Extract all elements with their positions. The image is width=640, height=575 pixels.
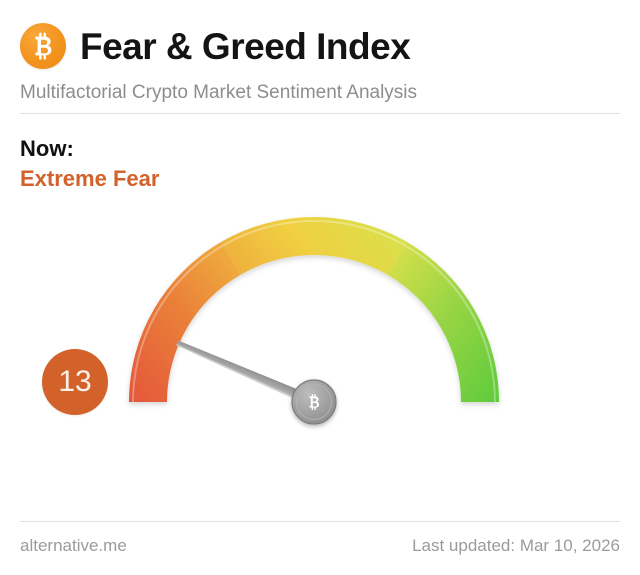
header: Fear & Greed Index [20,18,620,74]
page-title: Fear & Greed Index [80,28,410,65]
footer-divider [20,521,620,522]
fear-greed-index-widget: Fear & Greed Index Multifactorial Crypto… [0,0,640,575]
now-label: Now: [20,136,74,162]
gauge-svg [0,195,640,495]
source-label: alternative.me [20,536,127,556]
gauge-chart [0,195,640,495]
page-subtitle: Multifactorial Crypto Market Sentiment A… [20,82,417,104]
footer: alternative.me Last updated: Mar 10, 202… [20,536,620,556]
last-updated-label: Last updated: Mar 10, 2026 [412,536,620,556]
sentiment-classification: Extreme Fear [20,166,159,192]
gauge-arc [129,217,499,402]
bitcoin-icon [20,23,66,69]
gauge-value-badge: 13 [42,349,108,415]
header-divider [20,113,620,114]
